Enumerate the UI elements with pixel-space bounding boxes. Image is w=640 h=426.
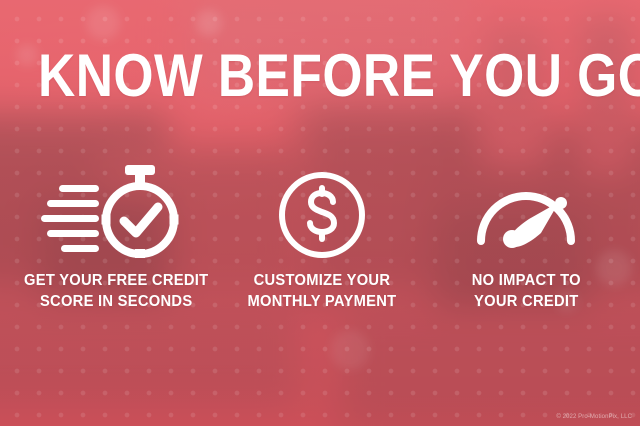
feature-item-no-credit-impact: NO IMPACT TO YOUR CREDIT: [412, 160, 640, 312]
caption-line-1: GET YOUR FREE CREDIT: [24, 272, 208, 289]
promo-banner: KNOW BEFORE YOU GO™: [0, 0, 640, 426]
caption-line-2: MONTHLY PAYMENT: [248, 293, 397, 310]
headline-text: KNOW BEFORE YOU GO: [38, 42, 640, 109]
feature-item-monthly-payment: CUSTOMIZE YOUR MONTHLY PAYMENT: [232, 160, 412, 312]
feature-caption: CUSTOMIZE YOUR MONTHLY PAYMENT: [248, 270, 397, 312]
feature-caption: NO IMPACT TO YOUR CREDIT: [471, 270, 580, 312]
caption-line-1: NO IMPACT TO: [471, 272, 580, 289]
feature-item-credit-score: GET YOUR FREE CREDIT SCORE IN SECONDS: [0, 160, 232, 312]
copyright-notice: © 2022 Pro-MotionPix, LLC: [556, 414, 632, 420]
feature-caption: GET YOUR FREE CREDIT SCORE IN SECONDS: [24, 270, 208, 312]
gauge-icon: [471, 160, 581, 270]
dollar-circle-icon: [276, 160, 368, 270]
caption-line-1: CUSTOMIZE YOUR: [254, 272, 391, 289]
caption-line-2: YOUR CREDIT: [474, 293, 578, 310]
caption-line-2: SCORE IN SECONDS: [40, 293, 192, 310]
page-title: KNOW BEFORE YOU GO™: [38, 46, 640, 106]
stopwatch-check-icon: [41, 160, 191, 270]
feature-list: GET YOUR FREE CREDIT SCORE IN SECONDS CU…: [0, 160, 640, 312]
